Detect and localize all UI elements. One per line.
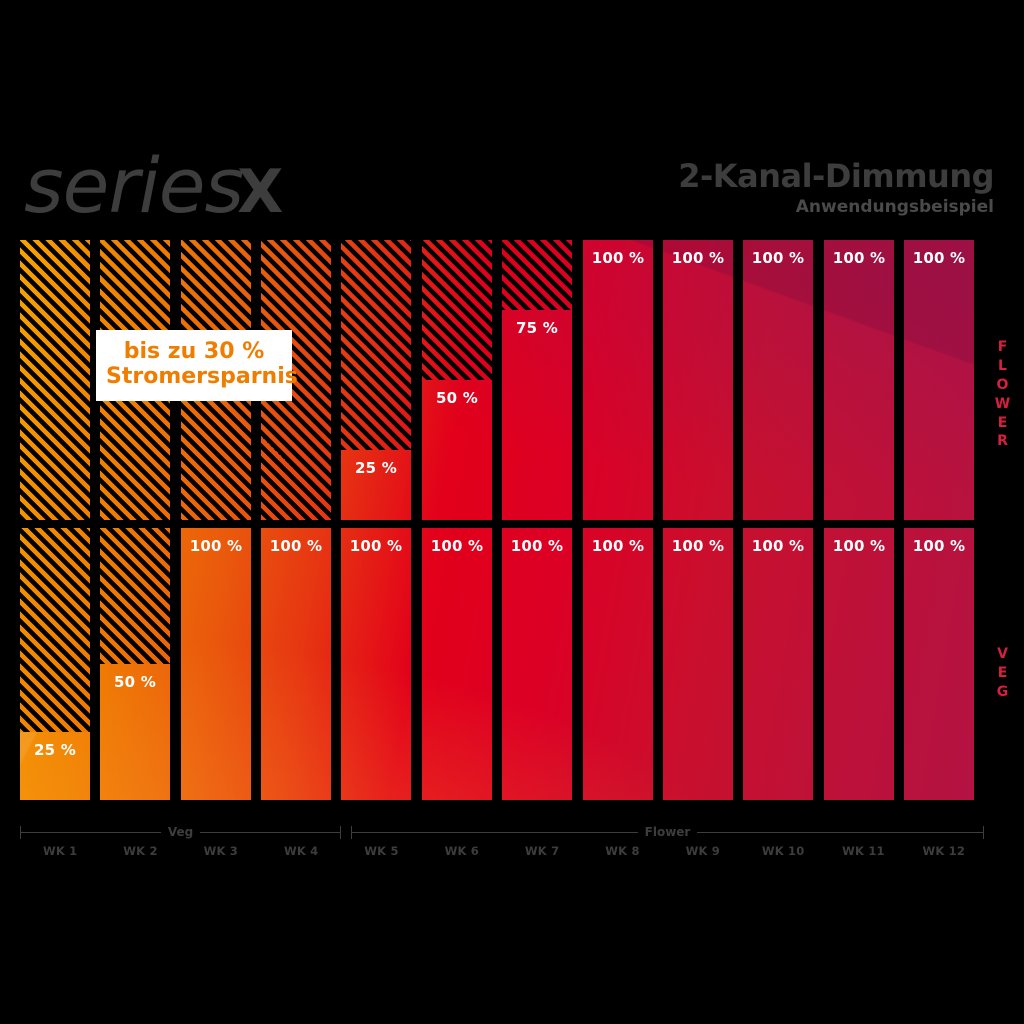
page-subtitle: Anwendungsbeispiel <box>678 197 994 217</box>
bar-gradient <box>663 240 733 520</box>
bar-gradient <box>743 240 813 520</box>
hatch-fill <box>341 240 411 450</box>
hatch-fill <box>20 240 90 520</box>
bar-flower-wk7[interactable]: 75 % <box>502 310 572 520</box>
bar-flower-wk11[interactable]: 100 % <box>824 240 894 520</box>
week-label-wk4: WK 4 <box>261 844 341 858</box>
phase-bracket-flower: Flower <box>351 824 984 840</box>
bracket-rule <box>352 832 638 833</box>
flower-letter-w: W <box>986 395 1020 414</box>
bar-gradient <box>663 528 733 800</box>
veg-letter-v: V <box>986 645 1020 664</box>
bar-veg-wk12[interactable]: 100 % <box>904 528 974 800</box>
bar-flower-wk5[interactable]: 25 % <box>341 450 411 520</box>
bar-gradient <box>824 528 894 800</box>
logo-wordmark: series <box>24 148 243 224</box>
bar-gradient <box>583 240 653 520</box>
bar-gradient <box>824 240 894 520</box>
bar-gradient <box>181 528 251 800</box>
bar-veg-wk5[interactable]: 100 % <box>341 528 411 800</box>
week-label-wk1: WK 1 <box>20 844 100 858</box>
bar-veg-wk3[interactable]: 100 % <box>181 528 251 800</box>
hatch-fill <box>502 240 572 310</box>
flower-letter-o: O <box>986 376 1020 395</box>
channel-label-flower: F L O W E R <box>986 338 1020 451</box>
bar-veg-wk1[interactable]: 25 % <box>20 732 90 800</box>
bracket-rule <box>200 832 340 833</box>
bar-gradient <box>904 528 974 800</box>
headroom-veg-wk2 <box>100 528 170 668</box>
bar-veg-wk11[interactable]: 100 % <box>824 528 894 800</box>
headroom-flower-wk1 <box>20 240 90 520</box>
infographic-canvas: series X 2-Kanal-Dimmung Anwendungsbeisp… <box>0 0 1024 1024</box>
logo-x-mark: X <box>237 162 283 222</box>
bar-flower-wk8[interactable]: 100 % <box>583 240 653 520</box>
bar-flower-wk9[interactable]: 100 % <box>663 240 733 520</box>
phase-bracket-veg: Veg <box>20 824 341 840</box>
bracket-rule <box>21 832 161 833</box>
seriesx-logo: series X <box>24 148 283 228</box>
bar-gradient <box>341 450 411 520</box>
bar-veg-wk10[interactable]: 100 % <box>743 528 813 800</box>
bar-gradient <box>341 528 411 800</box>
bar-flower-wk6[interactable]: 50 % <box>422 380 492 520</box>
veg-letter-e: E <box>986 664 1020 683</box>
channel-label-veg: V E G <box>986 645 1020 702</box>
headroom-flower-wk7 <box>502 240 572 310</box>
headroom-veg-wk1 <box>20 528 90 738</box>
bar-gradient <box>422 380 492 520</box>
veg-letter-g: G <box>986 683 1020 702</box>
bracket-cap-right <box>340 826 341 839</box>
bar-veg-wk4[interactable]: 100 % <box>261 528 331 800</box>
callout-line-1: bis zu 30 % <box>106 340 282 365</box>
header-title-block: 2-Kanal-Dimmung Anwendungsbeispiel <box>678 160 994 217</box>
phase-bracket-veg-label: Veg <box>161 825 200 839</box>
callout-line-2: Stromersparnis <box>106 365 282 390</box>
savings-callout: bis zu 30 % Stromersparnis <box>96 330 292 401</box>
week-label-wk7: WK 7 <box>502 844 582 858</box>
hatch-fill <box>422 240 492 380</box>
bar-gradient <box>502 528 572 800</box>
week-label-wk6: WK 6 <box>422 844 502 858</box>
week-label-wk10: WK 10 <box>743 844 823 858</box>
headroom-flower-wk5 <box>341 240 411 450</box>
week-tick-labels: WK 1 WK 2 WK 3 WK 4 WK 5 WK 6 WK 7 WK 8 … <box>20 844 984 858</box>
bar-gradient <box>743 528 813 800</box>
bracket-rule <box>697 832 983 833</box>
x-axis: Veg Flower WK 1 WK 2 WK 3 WK 4 WK 5 WK 6… <box>20 812 984 872</box>
bar-flower-wk10[interactable]: 100 % <box>743 240 813 520</box>
flower-letter-l: L <box>986 357 1020 376</box>
bar-flower-wk12[interactable]: 100 % <box>904 240 974 520</box>
bar-veg-wk9[interactable]: 100 % <box>663 528 733 800</box>
bar-gradient <box>100 664 170 800</box>
hatch-fill <box>100 528 170 668</box>
bar-gradient <box>502 310 572 520</box>
chart-plot-area: 25 % 50 % 75 % 100 % 100 % 100 % 100 % <box>20 240 984 800</box>
week-label-wk9: WK 9 <box>663 844 743 858</box>
bar-veg-wk8[interactable]: 100 % <box>583 528 653 800</box>
bar-veg-wk6[interactable]: 100 % <box>422 528 492 800</box>
bar-veg-wk2[interactable]: 50 % <box>100 664 170 800</box>
bar-gradient <box>583 528 653 800</box>
phase-bracket-flower-label: Flower <box>638 825 698 839</box>
bar-gradient <box>261 528 331 800</box>
flower-letter-e: E <box>986 414 1020 433</box>
flower-letter-r: R <box>986 432 1020 451</box>
week-label-wk5: WK 5 <box>341 844 421 858</box>
week-label-wk8: WK 8 <box>582 844 662 858</box>
bar-gradient <box>20 732 90 800</box>
week-label-wk2: WK 2 <box>100 844 180 858</box>
hatch-fill <box>20 528 90 738</box>
flower-letter-f: F <box>986 338 1020 357</box>
bar-gradient <box>422 528 492 800</box>
headroom-flower-wk6 <box>422 240 492 380</box>
bar-veg-wk7[interactable]: 100 % <box>502 528 572 800</box>
week-label-wk3: WK 3 <box>181 844 261 858</box>
bar-gradient <box>904 240 974 520</box>
page-title: 2-Kanal-Dimmung <box>678 160 994 194</box>
week-label-wk11: WK 11 <box>823 844 903 858</box>
week-label-wk12: WK 12 <box>904 844 984 858</box>
bracket-cap-right <box>983 826 984 839</box>
